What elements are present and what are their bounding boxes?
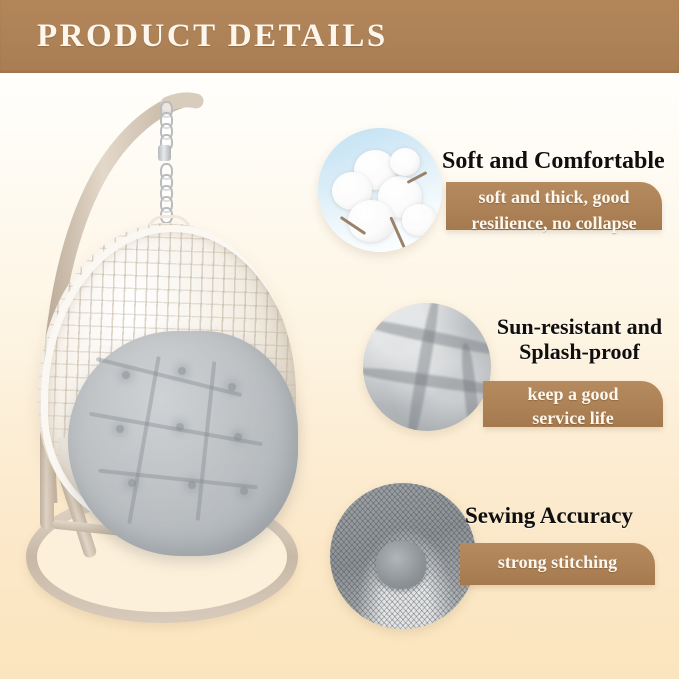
feature-card-sun-resistant-splash-proof: Sun-resistant and Splash-proof keep a go… (300, 295, 679, 440)
feature-banner-line-1: keep a good (483, 381, 663, 405)
feature-heading-line-1: Sun-resistant and (480, 315, 679, 340)
feature-card-soft-and-comfortable: Soft and Comfortable soft and thick, goo… (300, 120, 679, 265)
feature-banner: soft and thick, good resilience, no coll… (446, 182, 662, 230)
feature-heading: Sewing Accuracy (465, 503, 679, 529)
feature-heading: Soft and Comfortable (442, 148, 679, 175)
feature-banner: keep a good service life (483, 381, 663, 427)
feature-banner: strong stitching (460, 543, 655, 585)
product-image (0, 73, 330, 679)
product-details-page: PRODUCT DETAILS (0, 0, 679, 679)
page-title: PRODUCT DETAILS (37, 18, 388, 55)
grey-seat-cushion (68, 331, 298, 556)
feature-heading: Sun-resistant and Splash-proof (480, 315, 679, 364)
cushion-closeup-photo (363, 303, 491, 431)
feature-banner-line-2: resilience, no collapse (446, 208, 662, 234)
feature-banner-line-2: service life (483, 405, 663, 429)
cotton-bolls-photo (318, 128, 442, 252)
feature-card-sewing-accuracy: Sewing Accuracy strong stitching (300, 475, 679, 630)
stitching-closeup-photo (330, 483, 476, 629)
page-header-banner: PRODUCT DETAILS (0, 0, 679, 73)
hanging-chain-icon (160, 101, 170, 219)
feature-banner-line-1: strong stitching (460, 543, 655, 573)
feature-heading-line-2: Splash-proof (480, 340, 679, 365)
stitch-knot (376, 541, 426, 589)
feature-banner-line-1: soft and thick, good (446, 182, 662, 208)
